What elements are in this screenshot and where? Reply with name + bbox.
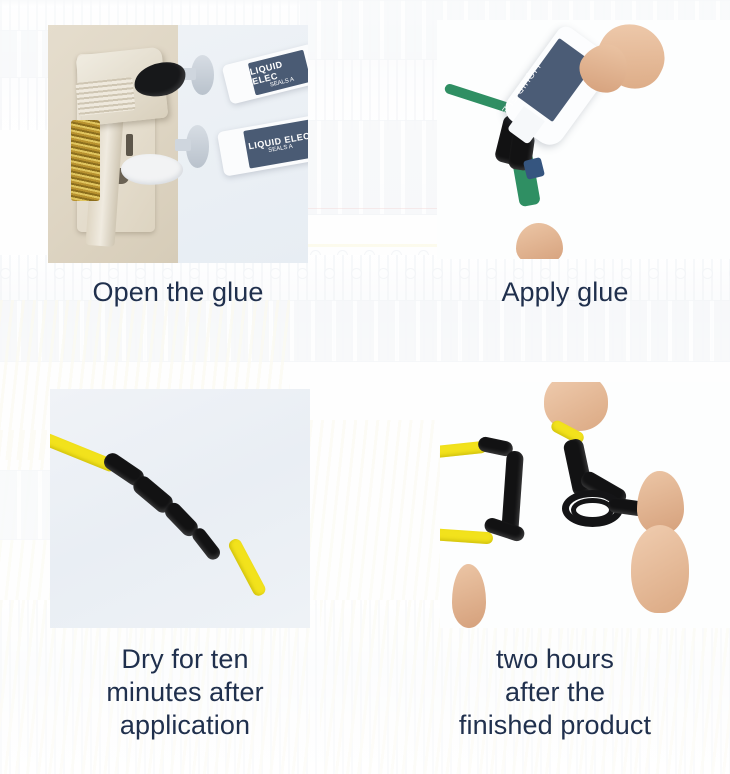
open-the-glue-photo: LIQUID ELEC SEALS A LIQUID ELEC SEALS A bbox=[48, 25, 308, 263]
caption-line: application bbox=[20, 709, 350, 742]
caption-line: Dry for ten bbox=[20, 643, 350, 676]
step-caption-4: two hours after the finished product bbox=[380, 643, 730, 742]
dry-ten-minutes-photo bbox=[50, 389, 310, 628]
finished-product-photo bbox=[440, 382, 730, 628]
step-caption-2: Apply glue bbox=[400, 276, 730, 309]
caption-line: finished product bbox=[380, 709, 730, 742]
step-caption-3: Dry for ten minutes after application bbox=[20, 643, 350, 742]
caption-line: minutes after bbox=[20, 676, 350, 709]
caption-line: two hours bbox=[380, 643, 730, 676]
step-caption-1: Open the glue bbox=[8, 276, 348, 309]
caption-line: after the bbox=[380, 676, 730, 709]
apply-glue-photo: LIQUID ELE bbox=[437, 20, 730, 259]
